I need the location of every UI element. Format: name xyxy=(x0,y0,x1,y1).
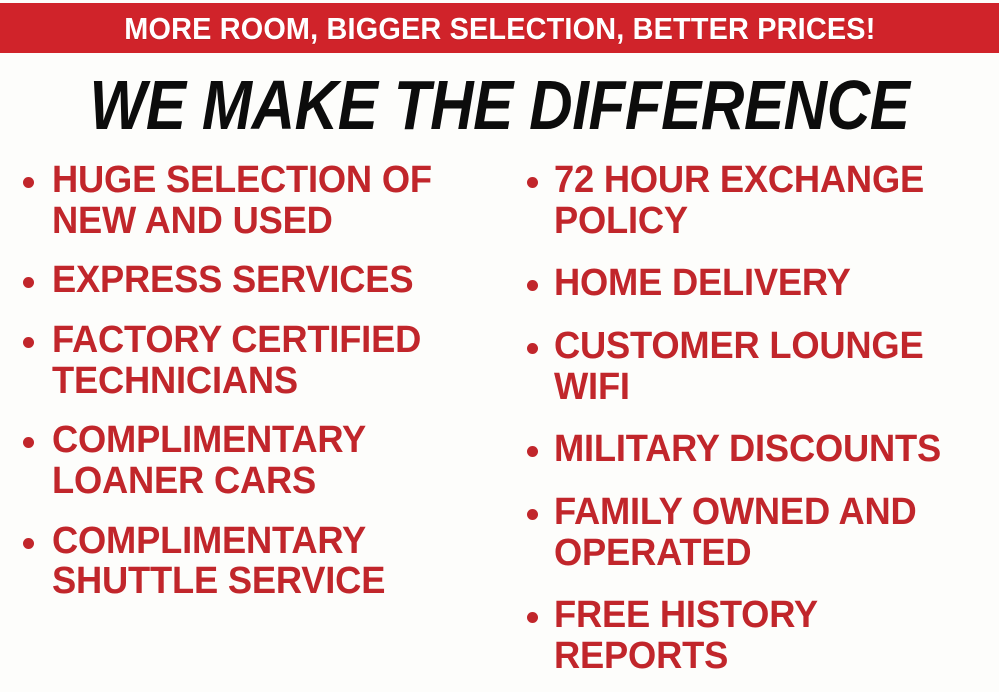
list-item: COMPLIMENTARY LOANER CARS xyxy=(18,420,510,501)
list-item-label: FAMILY OWNED AND OPERATED xyxy=(554,492,979,573)
bullet-dot-icon xyxy=(23,538,34,549)
feature-list-left-column: HUGE SELECTION OF NEW AND USED EXPRESS S… xyxy=(18,160,510,621)
page-title: WE MAKE THE DIFFERENCE xyxy=(70,70,929,140)
list-item: MILITARY DISCOUNTS xyxy=(520,429,999,470)
banner-headline-text: MORE ROOM, BIGGER SELECTION, BETTER PRIC… xyxy=(124,13,875,44)
bullet-dot-icon xyxy=(527,612,538,623)
list-item: COMPLIMENTARY SHUTTLE SERVICE xyxy=(18,521,510,602)
list-item-label: HUGE SELECTION OF NEW AND USED xyxy=(52,160,489,241)
bullet-dot-icon xyxy=(527,509,538,520)
list-item-label: HOME DELIVERY xyxy=(554,263,979,304)
bullet-dot-icon xyxy=(527,280,538,291)
list-item: FREE HISTORY REPORTS xyxy=(520,595,999,676)
promotional-poster: MORE ROOM, BIGGER SELECTION, BETTER PRIC… xyxy=(0,0,999,692)
bullet-dot-icon xyxy=(23,177,34,188)
bullet-dot-icon xyxy=(23,437,34,448)
bullet-dot-icon xyxy=(23,337,34,348)
list-item-label: 72 HOUR EXCHANGE POLICY xyxy=(554,160,979,241)
list-item: CUSTOMER LOUNGE WIFI xyxy=(520,326,999,407)
list-item-label: CUSTOMER LOUNGE WIFI xyxy=(554,326,979,407)
list-item-label: MILITARY DISCOUNTS xyxy=(554,429,979,470)
bullet-dot-icon xyxy=(527,343,538,354)
bullet-dot-icon xyxy=(23,277,34,288)
list-item: HOME DELIVERY xyxy=(520,263,999,304)
list-item: HUGE SELECTION OF NEW AND USED xyxy=(18,160,510,241)
list-item: FACTORY CERTIFIED TECHNICIANS xyxy=(18,320,510,401)
bullet-dot-icon xyxy=(527,446,538,457)
list-item: EXPRESS SERVICES xyxy=(18,260,510,301)
list-item-label: FREE HISTORY REPORTS xyxy=(554,595,979,676)
list-item-label: EXPRESS SERVICES xyxy=(52,260,489,301)
list-item: FAMILY OWNED AND OPERATED xyxy=(520,492,999,573)
bullet-dot-icon xyxy=(527,177,538,188)
list-item: 72 HOUR EXCHANGE POLICY xyxy=(520,160,999,241)
list-item-label: COMPLIMENTARY SHUTTLE SERVICE xyxy=(52,521,489,602)
list-item-label: COMPLIMENTARY LOANER CARS xyxy=(52,420,489,501)
feature-list-right-column: 72 HOUR EXCHANGE POLICY HOME DELIVERY CU… xyxy=(520,160,999,692)
list-item-label: FACTORY CERTIFIED TECHNICIANS xyxy=(52,320,489,401)
top-banner: MORE ROOM, BIGGER SELECTION, BETTER PRIC… xyxy=(0,3,999,53)
